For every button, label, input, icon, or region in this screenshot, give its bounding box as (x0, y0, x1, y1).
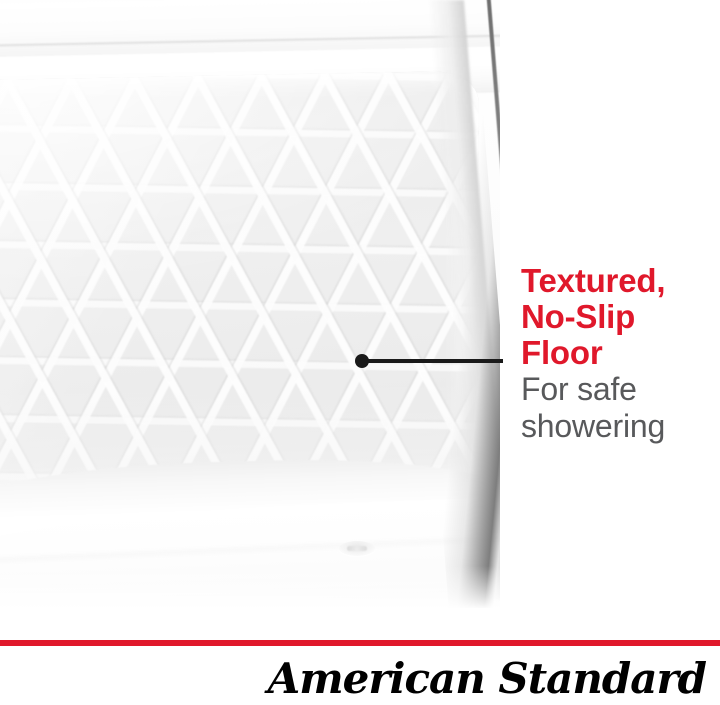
textured-no-slip-floor (0, 71, 482, 502)
maker-mark-emboss (339, 541, 375, 556)
callout-text-block: Textured, No-Slip Floor For safe showeri… (521, 263, 711, 445)
shower-base-bottom-fade (0, 566, 500, 620)
brand-logo-american-standard: American Standard (268, 655, 706, 703)
footer-red-rule (0, 640, 720, 646)
product-photo-shower-base (0, 0, 500, 620)
callout-headline-line-2: No-Slip (521, 299, 711, 335)
callout-subtext-line-2: showering (521, 408, 711, 445)
floor-edge-fade (0, 71, 482, 502)
callout-leader-line (366, 359, 503, 363)
callout-headline-line-3: Floor (521, 335, 711, 371)
marketing-image: Textured, No-Slip Floor For safe showeri… (0, 0, 720, 705)
callout-headline-line-1: Textured, (521, 263, 711, 299)
callout-subtext-line-1: For safe (521, 371, 711, 408)
